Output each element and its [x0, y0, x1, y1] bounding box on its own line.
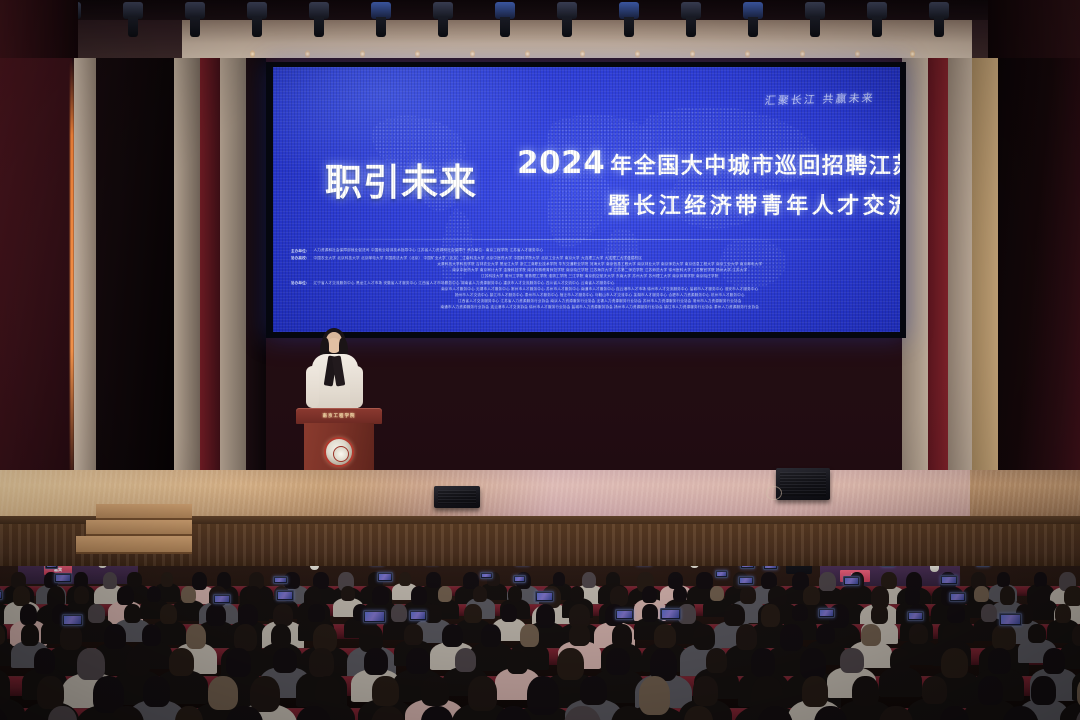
audience-member-head [442, 624, 463, 647]
audience-member-head [406, 648, 430, 674]
ceiling-downlight-10 [745, 50, 750, 58]
audience-member-head [536, 604, 556, 628]
audience-phone-recording [0, 590, 3, 600]
audience-member-head [341, 586, 355, 601]
teacup-mid [310, 566, 319, 570]
audience-member-head [678, 604, 695, 624]
event-headline-main: 年全国大中城市巡回招聘江苏站 [610, 148, 900, 180]
audience-member-head [527, 676, 559, 715]
audience-member-head [104, 624, 126, 649]
fineprint-label-1: 主办单位： [291, 247, 309, 254]
audience-phone-recording [738, 576, 753, 585]
audience-member-head [60, 624, 82, 650]
ceiling-left-shadow [0, 0, 78, 62]
audience-member-head [206, 604, 225, 626]
audience-phone-recording [615, 609, 634, 620]
stair-step-3 [76, 536, 192, 554]
audience-member-head [169, 648, 194, 676]
stage-light-12 [740, 2, 766, 42]
audience-phone-recording [818, 608, 835, 618]
audience-member-head [871, 604, 889, 624]
fineprint-group-3: 协办单位：辽宁省人才交流服务中心 黑龙江人才市场 安徽省人才服务中心 江西省人才… [291, 280, 886, 310]
audience-member-head [569, 624, 590, 646]
stage-light-14 [864, 2, 890, 42]
audience-member-head [1064, 586, 1080, 606]
audience-member-head [424, 604, 442, 623]
stage-light-3 [182, 2, 208, 42]
audience-member-head [724, 604, 744, 626]
audience-member-head [501, 604, 517, 622]
audience-member-head [706, 648, 727, 673]
audience-member-head [557, 648, 584, 680]
audience-phone-recording [881, 566, 896, 567]
audience-member-head [1034, 572, 1047, 587]
teacup-right [690, 566, 699, 568]
audience-phone-recording [949, 592, 965, 601]
audience-member-head [922, 676, 948, 704]
audience-member-head [1034, 586, 1049, 603]
ceiling-downlight-6 [525, 50, 530, 58]
audience-member-head [315, 676, 341, 708]
led-screen: 汇聚长江 共赢未来 职引未来 2024 年全国大中城市巡回招聘江苏站 暨长江经济… [273, 67, 900, 332]
speaker-arm-left [306, 366, 319, 408]
fineprint-body-2: 中国农业大学 北京科技大学 北京邮电大学 中国政法大学（北京） 中国矿业大学（北… [313, 255, 886, 279]
audience-member-head [74, 586, 89, 604]
wall-panel-tan-right [972, 58, 998, 478]
audience-member-head [391, 604, 407, 622]
stage-light-4 [244, 2, 270, 42]
audience-member-head [372, 586, 389, 605]
audience-member-head [404, 624, 423, 645]
fineprint-label-2: 协办高校： [291, 255, 309, 262]
audience-member-head [126, 648, 150, 676]
audience-phone-recording [363, 610, 385, 623]
ceiling-downlight-5 [470, 50, 475, 58]
audience-phone-recording [213, 594, 231, 605]
audience-member-head [181, 586, 196, 603]
audience-phone-recording [843, 576, 860, 586]
audience-member-head [1028, 624, 1046, 643]
stage-light-6 [368, 2, 394, 42]
audience-phone-recording [976, 566, 990, 567]
audience-member-head [34, 648, 56, 674]
stage-light-11 [678, 2, 704, 42]
stage-light-13 [802, 2, 828, 42]
ceiling-downlight-7 [580, 50, 585, 58]
audience-member-head [246, 586, 261, 603]
audience-member-head [481, 624, 502, 647]
audience-member-head [160, 604, 177, 624]
lectern-nameplate: 南京工程学院 [304, 412, 374, 420]
audience-member-head [819, 572, 836, 591]
audience-phone-recording [660, 608, 681, 620]
audience-member-head [117, 586, 134, 605]
audience-member-head [468, 676, 497, 711]
audience-phone-recording [276, 590, 295, 601]
fineprint-group-1: 主办单位：人力资源和社会保障部就业促进司 中国就业培训技术指导中心 江苏省人力资… [291, 247, 886, 254]
wall-panel-beige-right-2 [948, 58, 972, 478]
wall-panel-red-left [0, 58, 72, 478]
event-headline-sub: 暨长江经济带青年人才交流会 [517, 188, 900, 220]
audience-member-head [372, 676, 398, 706]
audience-member-head [905, 586, 921, 605]
audience-member-head [761, 604, 780, 627]
fineprint-label-3: 协办单位： [291, 280, 309, 287]
audience-member-head [273, 648, 296, 673]
audience-member-head [582, 572, 596, 588]
audience-member-head [103, 572, 118, 589]
audience-member-head [464, 604, 482, 623]
audience-member-head [693, 624, 715, 650]
audience-member-head [941, 648, 968, 678]
screen-horizontal-rule [293, 239, 880, 240]
audience-member-head [186, 624, 206, 649]
stage-light-15 [926, 2, 952, 42]
audience-seating-area: 嘉宾 嘉宾 [0, 566, 1080, 720]
ceiling-right-shadow [988, 0, 1080, 62]
ceiling-downlight-3 [360, 50, 365, 58]
audience-member-head [654, 624, 676, 648]
audience-member-head [273, 604, 293, 626]
audience-member-head [606, 648, 631, 675]
audience-member-head [981, 604, 997, 622]
audience-member-head [306, 586, 322, 605]
audience-member-head [816, 624, 834, 644]
audience-member-head [364, 648, 388, 675]
wall-panel-red-left-2 [200, 58, 220, 478]
screen-title-row: 职引未来 2024 年全国大中城市巡回招聘江苏站 暨长江经济带青年人才交流会 [325, 145, 872, 220]
title-lines: 2024 年全国大中城市巡回招聘江苏站 暨长江经济带青年人才交流会 [517, 145, 900, 220]
audience-member-head [147, 586, 161, 602]
audience-member-head [978, 676, 1003, 705]
audience-member-head [238, 604, 258, 626]
stair-step-2 [86, 520, 192, 536]
audience-member-head [553, 572, 565, 586]
audience-phone-recording [763, 566, 778, 570]
audience-phone-recording [62, 614, 83, 626]
audience-member-head [308, 604, 325, 622]
audience-phone-recording [409, 610, 427, 620]
audience-member-head [455, 648, 477, 672]
fineprint-body-1: 人力资源和社会保障部就业促进司 中国就业培训技术指导中心 江苏省人力资源和社会保… [313, 247, 886, 253]
stair-step-1 [96, 504, 192, 520]
audience-phone-recording [273, 576, 288, 584]
audience-member-head [693, 676, 718, 706]
audience-member-head [696, 572, 712, 589]
monitor-grille-left [438, 490, 476, 504]
audience-member-head [803, 586, 820, 605]
wall-panel-red-right [928, 58, 948, 478]
led-screen-frame: 汇聚长江 共赢未来 职引未来 2024 年全国大中城市巡回招聘江苏站 暨长江经济… [266, 62, 906, 338]
ceiling-downlight-12 [855, 50, 860, 58]
audience-member-head [852, 676, 879, 706]
audience-member-head [1055, 604, 1071, 623]
audience-member-head [426, 572, 441, 588]
audience-member-head [507, 648, 528, 674]
audience-member-head [20, 604, 38, 625]
audience-phone-recording [940, 575, 957, 585]
audience-member-head [1000, 586, 1016, 605]
audience-member-head [740, 586, 756, 604]
audience-member-head [942, 624, 961, 645]
wall-panel-beige-left-1 [74, 58, 96, 478]
audience-member-head [438, 586, 452, 602]
audience-phone-recording [377, 572, 393, 581]
stage-monitor-right [776, 468, 830, 500]
audience-member-head [208, 676, 238, 710]
audience-member-head [508, 586, 522, 602]
sponsor-fineprint-block: 主办单位：人力资源和社会保障部就业促进司 中国就业培训技术指导中心 江苏省人力资… [291, 247, 886, 310]
audience-member-head [143, 676, 170, 707]
audience-member-head [399, 572, 411, 586]
crest-inner-ring [333, 446, 349, 462]
audience-member-head [124, 604, 141, 623]
audience-phone-recording [54, 573, 72, 583]
audience-member-head [421, 676, 449, 706]
audience-member-head [751, 648, 775, 677]
audience-member-head [192, 572, 207, 590]
stage-light-9 [554, 2, 580, 42]
audience-member-head [580, 676, 607, 705]
audience-member-head [780, 624, 804, 651]
event-brand-title: 职引未来 [325, 164, 477, 201]
ceiling-downlight-13 [910, 50, 915, 58]
audience-member-head [642, 604, 658, 622]
audience-member-head [736, 624, 757, 650]
audience-phone-recording [999, 613, 1022, 626]
stage-light-5 [306, 2, 332, 42]
speaker-arm-right [350, 366, 363, 408]
ceiling-lighting-truss [0, 0, 1080, 62]
audience-member-head [37, 676, 64, 709]
audience-member-head [992, 624, 1016, 650]
audience-member-head [127, 572, 141, 587]
podium-and-speaker: 南京工程学院 [286, 330, 396, 485]
wall-panel-beige-left-3 [220, 58, 246, 478]
audience-member-head [161, 572, 173, 587]
stage-light-10 [616, 2, 642, 42]
audience-member-head [610, 586, 629, 606]
audience-member-head [142, 624, 161, 646]
stage-curtain-left [96, 58, 174, 478]
ceiling-downlight-4 [415, 50, 420, 58]
fineprint-line: 南通市人力资源服务行业协会 连云港市人才交流协会 徐州市人才服务行业协会 盐城市… [313, 304, 886, 310]
audience-member-head [77, 648, 104, 680]
event-year: 2024 [517, 145, 605, 181]
audience-member-head [13, 586, 30, 606]
audience-member-head [800, 648, 827, 679]
monitor-grille-right [780, 472, 826, 496]
wall-panel-beige-left-2 [174, 58, 200, 478]
audience-member-head [890, 648, 911, 672]
audience-phone-recording [907, 611, 924, 621]
audience-member-head [802, 676, 827, 707]
audience-member-head [520, 624, 539, 647]
fineprint-group-2: 协办高校：中国农业大学 北京科技大学 北京邮电大学 中国政法大学（北京） 中国矿… [291, 255, 886, 279]
fineprint-line: 江苏科技大学 常州工学院 常熟理工学院 淮阴工学院 三江学院 南京航空航天大学 … [313, 273, 886, 279]
audience-member-head [226, 648, 251, 677]
fineprint-line: 人力资源和社会保障部就业促进司 中国就业培训技术指导中心 江苏省人力资源和社会保… [313, 247, 886, 253]
audience-member-head [909, 624, 927, 644]
stage-light-7 [430, 2, 456, 42]
wall-panel-dark-left-3 [246, 58, 266, 478]
audience-member-head [309, 648, 334, 677]
audience-member-head [21, 624, 39, 646]
stage-light-8 [492, 2, 518, 42]
ceiling-downlight-11 [800, 50, 805, 58]
audience-phone-recording [740, 566, 755, 569]
audience-member-head [710, 586, 724, 601]
audience-member-head [88, 604, 105, 623]
audience-member-head [612, 624, 632, 648]
ceiling-downlight-2 [305, 50, 310, 58]
audience-member-head [1031, 676, 1055, 705]
monitor-cable [766, 486, 782, 500]
ceiling-downlight-1 [250, 50, 255, 58]
audience-member-head [1072, 624, 1080, 646]
audience-member-head [988, 648, 1011, 674]
audience-member-head [411, 586, 427, 605]
audience-member-head [271, 624, 291, 648]
audience-member-head [473, 586, 487, 602]
ceiling-downlight-8 [635, 50, 640, 58]
audience-member-head [673, 586, 688, 602]
audience-member-head [1043, 648, 1065, 674]
audience-phone-recording [480, 572, 493, 580]
audience-phone-recording [45, 566, 58, 569]
audience-member-head [997, 572, 1010, 587]
audience-member-head [861, 624, 881, 646]
audience-member-head [642, 586, 657, 603]
auditorium-stage-photo: 汇聚长江 共赢未来 职引未来 2024 年全国大中城市巡回招聘江苏站 暨长江经济… [0, 0, 1080, 720]
stage-curtain-right [998, 58, 1080, 478]
audience-member-head [840, 648, 863, 673]
audience-member-head [974, 586, 988, 602]
calligraphy-slogan: 汇聚长江 共赢未来 [763, 90, 875, 109]
audience-phone-recording [715, 570, 728, 578]
fineprint-body-3: 辽宁省人才交流服务中心 黑龙江人才市场 安徽省人才服务中心 江西省人才市场服务中… [313, 280, 886, 310]
audience-member-head [792, 604, 808, 621]
university-crest-icon [324, 437, 354, 467]
audience-member-head [250, 676, 280, 712]
audience-phone-recording [513, 575, 526, 583]
audience-member-head [947, 604, 964, 623]
lectern-top: 南京工程学院 [296, 408, 382, 424]
truss-bar [0, 0, 1080, 20]
stage-stairs [76, 498, 192, 570]
audience-member-head [570, 586, 585, 602]
ceiling-downlight-9 [690, 50, 695, 58]
audience-member-head [639, 676, 671, 715]
audience-phone-recording [535, 591, 554, 602]
stage-monitor-left [434, 486, 480, 508]
stage-light-2 [120, 2, 146, 42]
